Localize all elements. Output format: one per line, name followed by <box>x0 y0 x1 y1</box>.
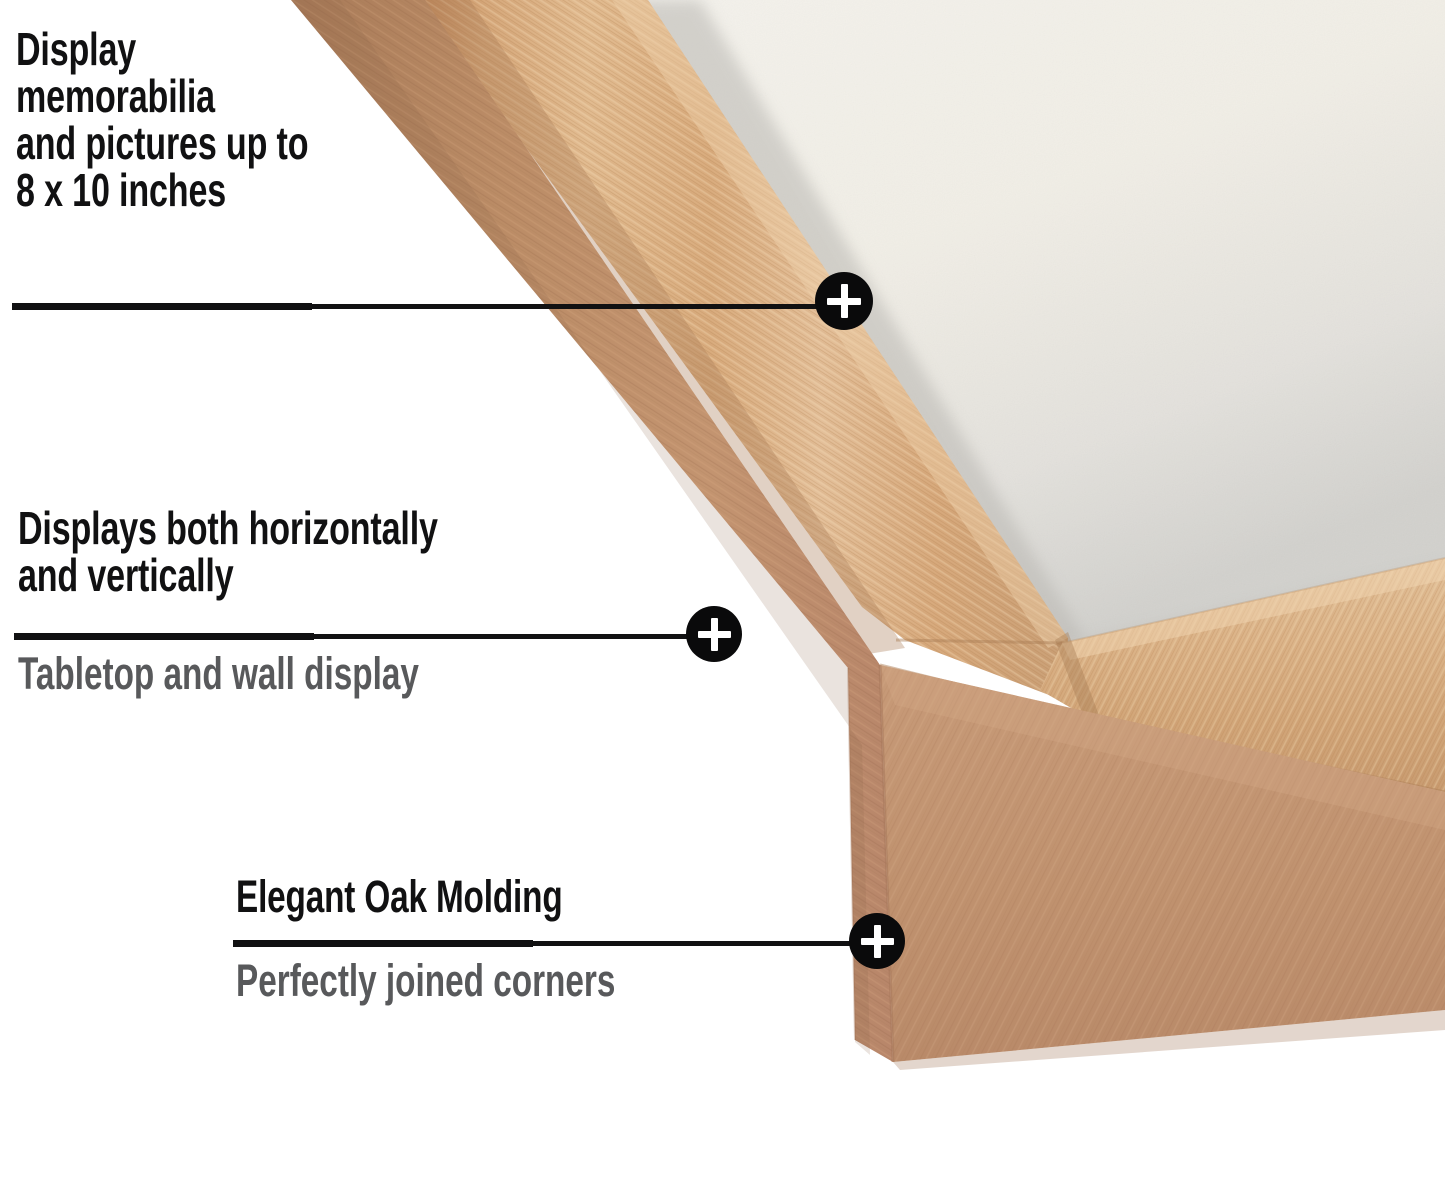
size-callout-leader-line <box>12 304 840 309</box>
plus-marker-3[interactable] <box>849 913 905 969</box>
product-feature-callout-image: Display memorabilia and pictures up to 8… <box>0 0 1445 1188</box>
orientation-callout-leader-line <box>14 634 712 639</box>
orientation-callout-subline: Tabletop and wall display <box>18 650 536 697</box>
plus-marker-1[interactable] <box>815 272 873 330</box>
molding-callout-subline: Perfectly joined corners <box>236 957 695 1004</box>
plus-icon-vertical <box>874 925 881 958</box>
size-callout-headline: Display memorabilia and pictures up to 8… <box>16 26 430 214</box>
orientation-callout-headline: Displays both horizontally and verticall… <box>18 505 551 599</box>
molding-callout-headline: Elegant Oak Molding <box>236 874 695 920</box>
plus-icon-vertical <box>841 284 848 318</box>
plus-marker-2[interactable] <box>686 606 742 662</box>
molding-callout-leader-line <box>233 941 876 946</box>
plus-icon-vertical <box>711 618 718 651</box>
